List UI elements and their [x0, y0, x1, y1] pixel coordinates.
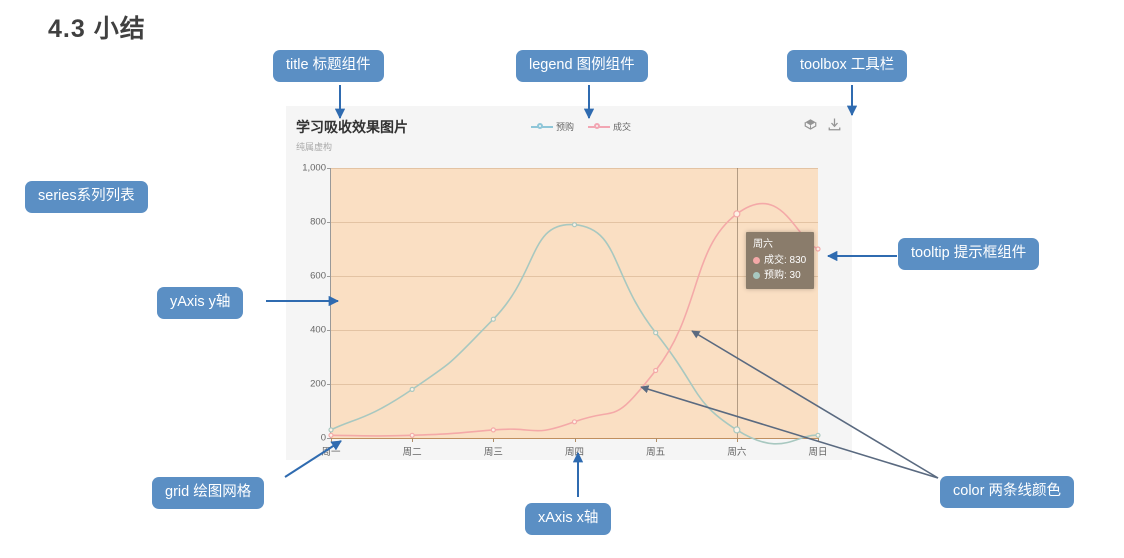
- legend-label-yugou: 预购: [556, 120, 574, 133]
- series-point[interactable]: [329, 428, 333, 432]
- series-point[interactable]: [573, 223, 577, 227]
- y-tick-label: 400: [310, 325, 326, 336]
- tooltip-dot-chengjiao: [753, 257, 760, 264]
- magic-type-icon[interactable]: [803, 117, 818, 132]
- chart-subtitle: 纯属虚构: [296, 140, 332, 153]
- chart-grid: 02004006008001,000 周一周二周三周四周五周六周日: [331, 168, 818, 438]
- callout-xaxis[interactable]: xAxis x轴: [525, 503, 611, 535]
- slide-canvas: 4.3 小结 学习吸收效果图片 纯属虚构 预购 成交: [0, 0, 1124, 558]
- x-tick-label: 周日: [808, 444, 827, 458]
- series-point[interactable]: [491, 428, 495, 432]
- series-point[interactable]: [654, 369, 658, 373]
- series-point[interactable]: [654, 331, 658, 335]
- series-line-预购[interactable]: [331, 225, 818, 444]
- x-tick-label: 周六: [727, 444, 746, 458]
- series-point[interactable]: [734, 427, 740, 433]
- tooltip-row-chengjiao: 成交: 830: [753, 253, 806, 268]
- series-lines: [331, 168, 818, 438]
- series-point[interactable]: [329, 433, 333, 437]
- tooltip-text-chengjiao: 成交: 830: [764, 253, 806, 268]
- chart-title: 学习吸收效果图片: [296, 117, 408, 137]
- x-tick-mark: [737, 438, 738, 442]
- legend-marker-yugou: [531, 122, 553, 132]
- y-tick-label: 1,000: [302, 163, 326, 174]
- tooltip-row-yugou: 预购: 30: [753, 268, 806, 283]
- callout-grid[interactable]: grid 绘图网格: [152, 477, 264, 509]
- callout-toolbox[interactable]: toolbox 工具栏: [787, 50, 907, 82]
- x-tick-label: 周三: [484, 444, 503, 458]
- series-point[interactable]: [573, 420, 577, 424]
- callout-yaxis[interactable]: yAxis y轴: [157, 287, 243, 319]
- callout-tooltip[interactable]: tooltip 提示框组件: [898, 238, 1039, 270]
- series-point[interactable]: [410, 433, 414, 437]
- x-tick-mark: [493, 438, 494, 442]
- save-image-icon[interactable]: [827, 117, 842, 132]
- legend-marker-chengjiao: [588, 122, 610, 132]
- callout-series[interactable]: series系列列表: [25, 181, 148, 213]
- tooltip-dot-yugou: [753, 272, 760, 279]
- series-point[interactable]: [816, 247, 820, 251]
- series-point[interactable]: [816, 433, 820, 437]
- page-title: 4.3 小结: [48, 9, 146, 45]
- tooltip-title: 周六: [753, 237, 806, 252]
- series-point[interactable]: [491, 317, 495, 321]
- y-tick-label: 0: [321, 433, 326, 444]
- y-tick-label: 800: [310, 217, 326, 228]
- chart-tooltip: 周六 成交: 830 预购: 30: [746, 232, 814, 289]
- x-tick-label: 周五: [646, 444, 665, 458]
- x-tick-mark: [656, 438, 657, 442]
- tooltip-text-yugou: 预购: 30: [764, 268, 801, 283]
- legend-label-chengjiao: 成交: [613, 120, 631, 133]
- callout-legend[interactable]: legend 图例组件: [516, 50, 648, 82]
- legend-item-chengjiao[interactable]: 成交: [588, 120, 631, 133]
- callout-color[interactable]: color 两条线颜色: [940, 476, 1074, 508]
- x-tick-mark: [412, 438, 413, 442]
- series-line-成交[interactable]: [331, 203, 818, 435]
- x-tick-label: 周一: [321, 444, 340, 458]
- x-tick-mark: [818, 438, 819, 442]
- legend-item-yugou[interactable]: 预购: [531, 120, 574, 133]
- chart-legend: 预购 成交: [531, 120, 631, 133]
- chart-toolbox: [803, 117, 842, 132]
- y-tick-label: 200: [310, 379, 326, 390]
- x-tick-mark: [575, 438, 576, 442]
- series-point[interactable]: [410, 387, 414, 391]
- y-tick-label: 600: [310, 271, 326, 282]
- x-tick-label: 周二: [403, 444, 422, 458]
- series-point[interactable]: [734, 211, 740, 217]
- callout-title[interactable]: title 标题组件: [273, 50, 384, 82]
- x-tick-mark: [331, 438, 332, 442]
- x-tick-label: 周四: [565, 444, 584, 458]
